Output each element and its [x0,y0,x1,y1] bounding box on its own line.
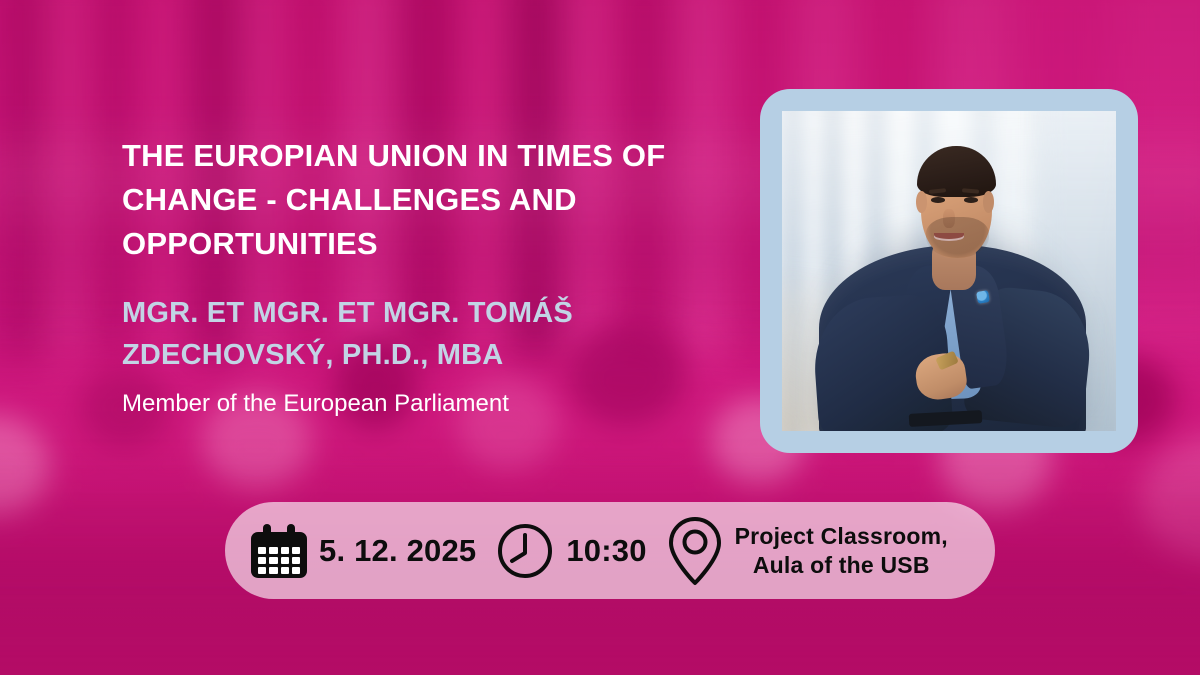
event-location-text: Project Classroom,Aula of the USB [735,522,948,578]
calendar-grid [258,547,300,574]
portrait-ear-right [983,191,994,213]
event-location-line1: Project Classroom, [735,523,948,549]
speaker-role: Member of the European Parliament [122,386,722,422]
event-location-line2: Aula of the USB [753,552,930,578]
text-block: THE EUROPIAN UNION IN TIMES OF CHANGE - … [122,134,722,422]
lapel-pin-icon [976,290,990,304]
portrait-eye-right [964,197,978,203]
event-time-text: 10:30 [566,533,646,569]
event-time: 10:30 [496,522,646,580]
portrait-subject [782,111,1116,431]
speaker-photo-frame [760,89,1138,453]
event-location: Project Classroom,Aula of the USB [667,515,948,587]
map-pin-icon [667,515,723,587]
speaker-photo [782,111,1116,431]
event-date-text: 5. 12. 2025 [319,533,476,569]
clock-icon [496,522,554,580]
page-title: THE EUROPIAN UNION IN TIMES OF CHANGE - … [122,134,722,266]
calendar-icon [251,524,307,578]
event-info-bar: 5. 12. 2025 10:30 Project Classroom,Aula… [225,502,995,599]
speaker-name: MGR. ET MGR. ET MGR. TOMÁŠ ZDECHOVSKÝ, P… [122,292,722,376]
event-poster: THE EUROPIAN UNION IN TIMES OF CHANGE - … [0,0,1200,675]
event-date: 5. 12. 2025 [251,524,476,578]
